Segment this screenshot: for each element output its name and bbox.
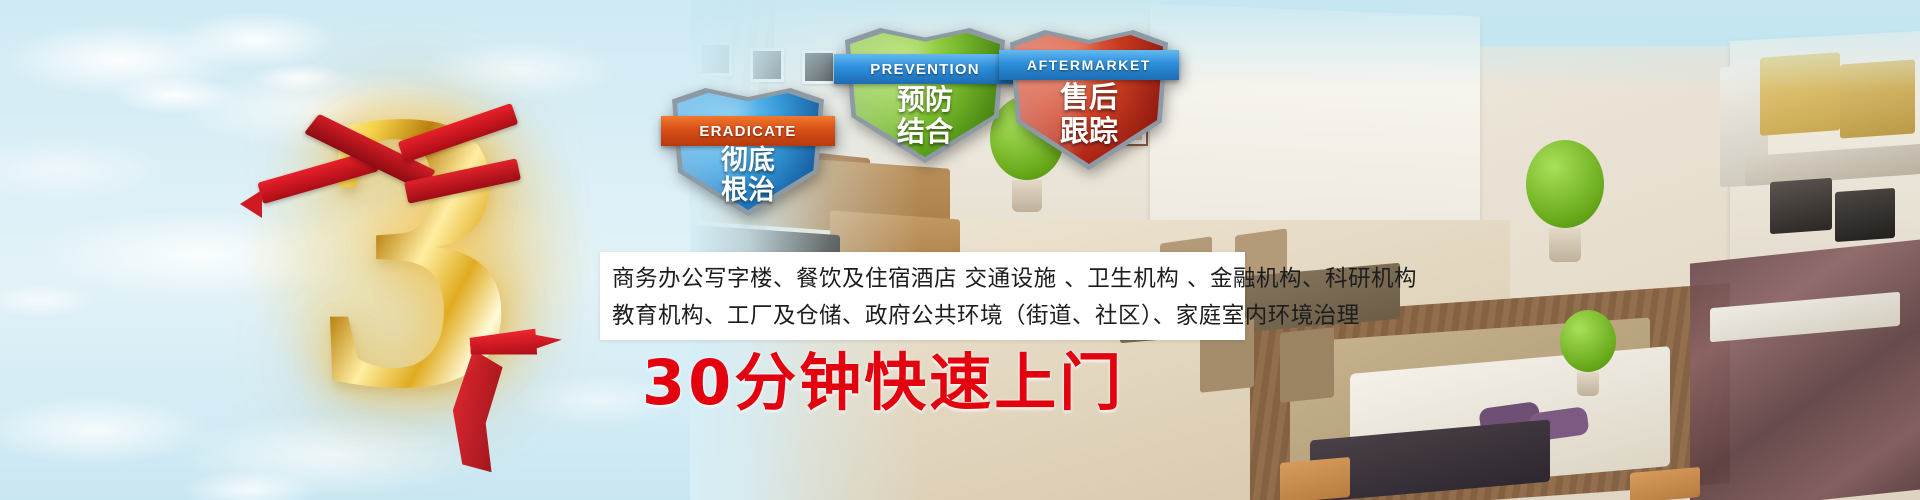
badge-eradicate: ERADICATE 彻底 根治 xyxy=(672,88,824,216)
nightstand xyxy=(1630,467,1700,500)
badge-cn-line2-eradicate: 根治 xyxy=(672,176,824,205)
plant-pot xyxy=(1012,180,1042,212)
badge-cn-line1-prevention: 预防 xyxy=(845,85,1005,115)
badge-banner-eradicate: ERADICATE xyxy=(661,116,834,146)
dining-chair xyxy=(1280,327,1334,403)
badge-aftermarket: AFTERMARKET 售后 跟踪 xyxy=(1010,30,1168,170)
nightstand xyxy=(1280,457,1350,500)
service-scope-panel: 商务办公写字楼、餐饮及住宿酒店 交通设施 、卫生机构 、金融机构、科研机构 教育… xyxy=(600,252,1245,340)
red-ribbon-tail xyxy=(240,190,262,218)
badge-cn-line2-aftermarket: 跟踪 xyxy=(1010,116,1168,147)
badge-cn-line1-aftermarket: 售后 xyxy=(1010,82,1168,113)
gold-numeral-3: 3 xyxy=(250,85,580,415)
badge-cn-line2-prevention: 结合 xyxy=(845,117,1005,147)
plant-pot xyxy=(1549,228,1580,262)
service-scope-line-2: 教育机构、工厂及仓储、政府公共环境（街道、社区）、家庭室内环境治理 xyxy=(600,298,1245,335)
badge-cn-line1-eradicate: 彻底 xyxy=(672,146,824,175)
promo-banner: 3 ERADICATE 彻底 根治 PREVENTION 预防 结合 AFTER… xyxy=(0,0,1920,500)
headline-text: 30分钟快速上门 xyxy=(642,352,1124,414)
floor-marble xyxy=(1690,236,1920,500)
potted-plant xyxy=(1560,310,1616,396)
plant-leaves xyxy=(1560,310,1616,372)
oven xyxy=(1835,188,1895,242)
plant-pot xyxy=(1577,372,1599,396)
badge-banner-aftermarket: AFTERMARKET xyxy=(999,50,1179,80)
potted-plant xyxy=(1526,140,1604,262)
badge-prevention: PREVENTION 预防 结合 xyxy=(845,28,1005,163)
badge-banner-prevention: PREVENTION xyxy=(834,54,1016,84)
oven xyxy=(1770,178,1832,234)
service-scope-line-1: 商务办公写字楼、餐饮及住宿酒店 交通设施 、卫生机构 、金融机构、科研机构 xyxy=(600,261,1245,298)
plant-leaves xyxy=(1526,140,1604,228)
